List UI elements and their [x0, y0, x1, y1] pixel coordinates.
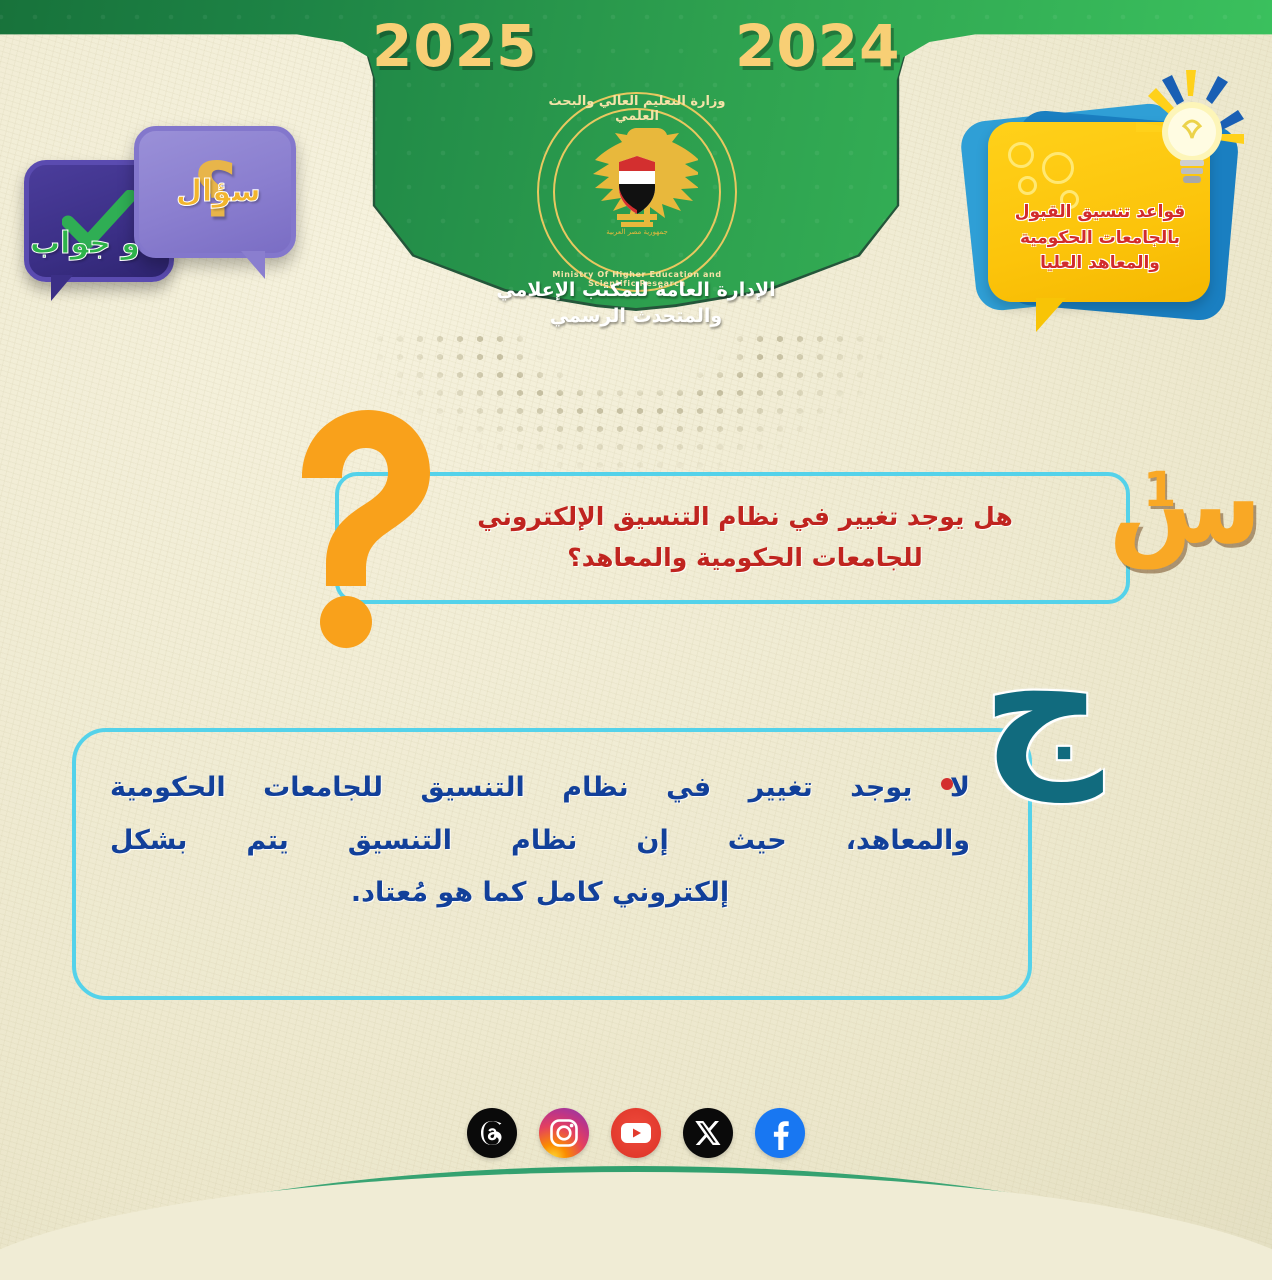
answer-marker-letter: ج	[982, 620, 1103, 788]
badge-label-answer: و جواب	[30, 226, 140, 261]
threads-icon[interactable]	[467, 1108, 517, 1158]
topic-line-3: والمعاهد العليا	[990, 251, 1210, 277]
question-line-2: للجامعات الحكومية والمعاهد؟	[400, 538, 1090, 579]
svg-text:جمهورية مصر العربية: جمهورية مصر العربية	[606, 228, 668, 236]
year-2024-label: 2024	[735, 12, 900, 80]
badge-label-question: سؤال	[176, 174, 261, 209]
year-2025-label: 2025	[372, 12, 537, 80]
halftone-dot-fan	[370, 330, 890, 480]
lightbulb-icon	[1132, 70, 1250, 198]
answer-line-1: لا يوجد تغيير في نظام التنسيق للجامعات ا…	[110, 762, 970, 815]
question-text: هل يوجد تغيير في نظام التنسيق الإلكتروني…	[400, 497, 1090, 578]
topic-badge-text: قواعد تنسيق القبول بالجامعات الحكومية وا…	[990, 200, 1210, 277]
x-twitter-icon[interactable]	[683, 1108, 733, 1158]
answer-text: لا يوجد تغيير في نظام التنسيق للجامعات ا…	[110, 762, 970, 920]
infographic-poster: 2025 2024 وزارة التعليم العالي والبحث ال…	[0, 0, 1272, 1280]
youtube-icon[interactable]	[611, 1108, 661, 1158]
question-line-1: هل يوجد تغيير في نظام التنسيق الإلكتروني	[400, 497, 1090, 538]
topic-line-2: بالجامعات الحكومية	[990, 226, 1210, 252]
topic-line-1: قواعد تنسيق القبول	[990, 200, 1210, 226]
answer-line-3: إلكتروني كامل كما هو مُعتاد.	[110, 867, 970, 920]
question-answer-badge: ؟ سؤال و جواب	[16, 96, 296, 286]
eagle-of-saladin-emblem: جمهورية مصر العربية	[576, 122, 698, 252]
question-marker-letter: س	[1108, 448, 1263, 560]
footer-cream-curve	[0, 1172, 1272, 1280]
social-links	[0, 1108, 1272, 1158]
question-marker-number: 1	[1143, 462, 1176, 518]
ministry-logo: وزارة التعليم العالي والبحث العلمي جمهور…	[537, 92, 737, 292]
facebook-icon[interactable]	[755, 1108, 805, 1158]
topic-badge: قواعد تنسيق القبول بالجامعات الحكومية وا…	[960, 70, 1260, 340]
answer-line-2: والمعاهد، حيث إن نظام التنسيق يتم بشكل	[110, 815, 970, 868]
logo-arabic-ring-text: وزارة التعليم العالي والبحث العلمي	[537, 94, 737, 124]
instagram-icon[interactable]	[539, 1108, 589, 1158]
